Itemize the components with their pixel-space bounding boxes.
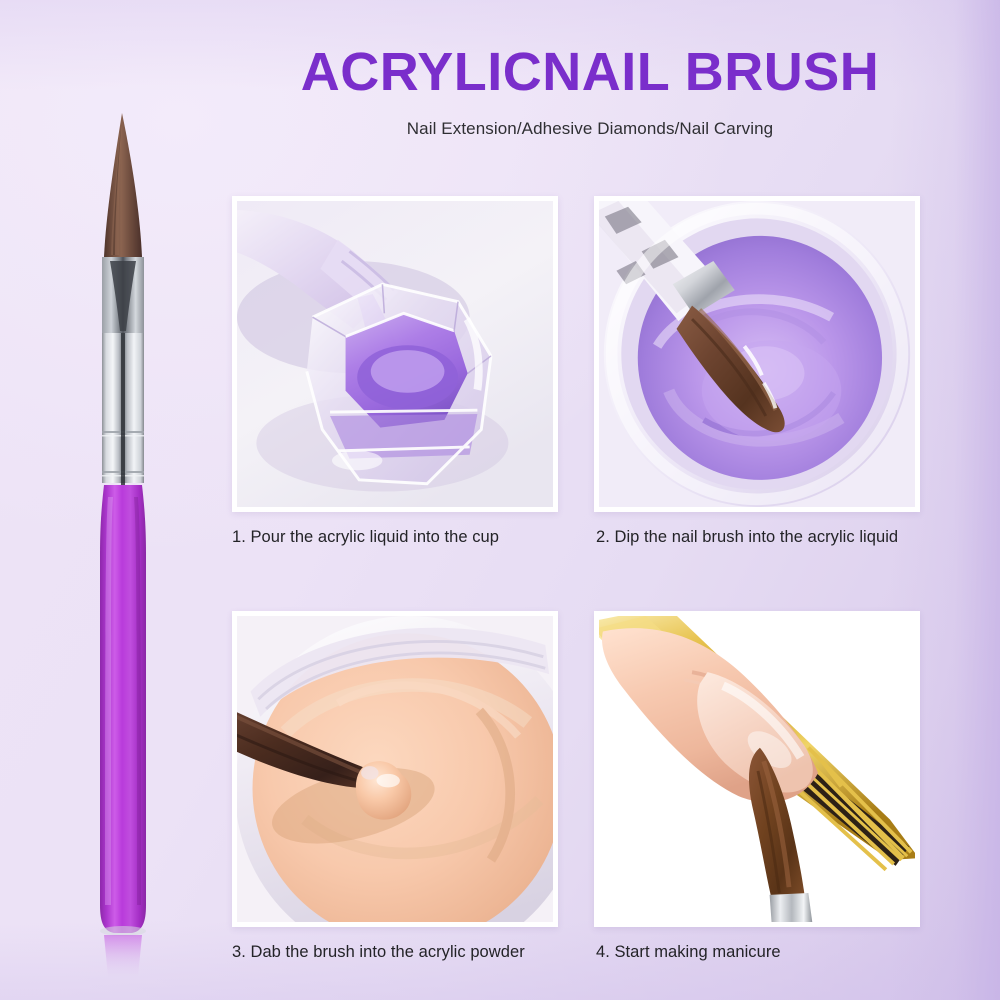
step-photo-4 xyxy=(599,616,915,922)
step-photo-2 xyxy=(599,201,915,507)
page-subtitle: Nail Extension/Adhesive Diamonds/Nail Ca… xyxy=(210,119,970,139)
step-photo-3 xyxy=(237,616,553,922)
product-brush-image xyxy=(84,105,188,985)
header: ACRYLICNAIL BRUSH Nail Extension/Adhesiv… xyxy=(210,44,970,139)
steps-grid: 1. Pour the acrylic liquid into the cup xyxy=(232,196,932,986)
step-photo-frame-4 xyxy=(594,611,920,927)
page-title: ACRYLICNAIL BRUSH xyxy=(210,44,970,101)
step-card-2: 2. Dip the nail brush into the acrylic l… xyxy=(594,196,920,548)
step-photo-frame-1 xyxy=(232,196,558,512)
step-caption-3: 3. Dab the brush into the acrylic powder xyxy=(232,942,558,963)
step-caption-2: 2. Dip the nail brush into the acrylic l… xyxy=(596,527,920,548)
step-card-4: 4. Start making manicure xyxy=(594,611,920,963)
step-caption-1: 1. Pour the acrylic liquid into the cup xyxy=(232,527,558,548)
step-photo-frame-2 xyxy=(594,196,920,512)
step-photo-1 xyxy=(237,201,553,507)
step-card-3: 3. Dab the brush into the acrylic powder xyxy=(232,611,558,963)
product-banner: ACRYLICNAIL BRUSH Nail Extension/Adhesiv… xyxy=(0,0,1000,1000)
step-card-1: 1. Pour the acrylic liquid into the cup xyxy=(232,196,558,548)
step-caption-4: 4. Start making manicure xyxy=(596,942,920,963)
step-photo-frame-3 xyxy=(232,611,558,927)
